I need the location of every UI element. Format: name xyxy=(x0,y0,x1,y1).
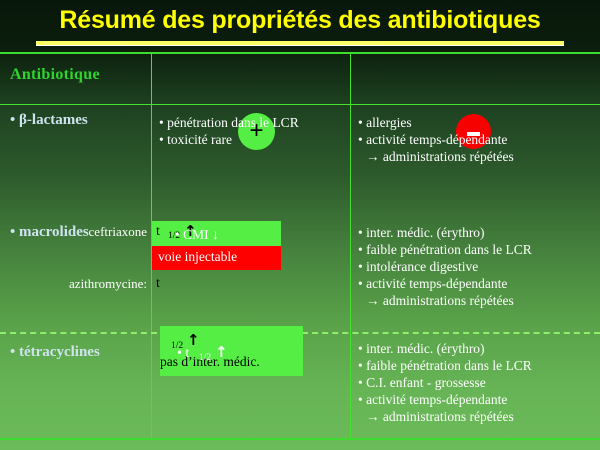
half-life-subscript: 1/2 xyxy=(199,353,211,363)
properties-table: Antibiotique + • β-lactames ceftriaxone … xyxy=(0,52,600,440)
list-item: → administrations répétées xyxy=(358,148,514,165)
advantages-list: • CMI ↓ xyxy=(175,226,219,243)
table-header-row: Antibiotique + xyxy=(0,54,600,104)
list-item: • toxicité rare xyxy=(159,131,299,148)
list-item: • pénétration dans le LCR xyxy=(159,114,299,131)
list-item: • faible pénétration dans le LCR xyxy=(358,241,532,258)
table-row: • macrolides azithromycine: • CMI ↓ t 1/… xyxy=(0,216,600,332)
list-item: • activité temps-dépendante xyxy=(358,275,532,292)
up-arrow-icon: ↑ xyxy=(215,343,228,361)
list-item: • allergies xyxy=(358,114,514,131)
drug-class-label: • β-lactames xyxy=(10,112,88,129)
list-item: • C.I. enfant - grossesse xyxy=(358,374,532,391)
table-row: • β-lactames ceftriaxone • pénétration d… xyxy=(0,104,600,216)
advantages-list: • pénétration dans le LCR • toxicité rar… xyxy=(159,114,299,148)
list-item: → administrations répétées xyxy=(358,408,532,425)
list-item: • intolérance digestive xyxy=(358,258,532,275)
list-item: • CMI ↓ xyxy=(175,226,219,243)
half-life-label: • t xyxy=(177,346,189,362)
title-underline-rule xyxy=(36,41,564,46)
drug-class-label: • tétracyclines xyxy=(10,344,100,361)
drug-class-label: • macrolides xyxy=(10,224,89,241)
list-item: → administrations répétées xyxy=(358,292,532,309)
title-area: Résumé des propriétés des antibiotiques xyxy=(0,0,600,46)
half-life-label: t xyxy=(156,276,160,292)
page-title: Résumé des propriétés des antibiotiques xyxy=(0,4,600,36)
drug-sub-label: azithromycine: xyxy=(69,276,147,292)
slide-canvas: Résumé des propriétés des antibiotiques … xyxy=(0,0,600,450)
table-row: • tétracyclines • t 1/2 ↑ • inter. médic… xyxy=(0,334,600,440)
column-header-antibiotique: Antibiotique xyxy=(10,66,100,84)
list-item: • activité temps-dépendante xyxy=(358,131,514,148)
list-item: • inter. médic. (érythro) xyxy=(358,224,532,241)
list-item: • activité temps-dépendante xyxy=(358,391,532,408)
list-item: • faible pénétration dans le LCR xyxy=(358,357,532,374)
disadvantages-list: • inter. médic. (érythro) • faible pénét… xyxy=(358,224,532,309)
list-item: • inter. médic. (érythro) xyxy=(358,340,532,357)
disadvantages-list: • allergies • activité temps-dépendante … xyxy=(358,114,514,165)
disadvantages-list: • inter. médic. (érythro) • faible pénét… xyxy=(358,340,532,425)
